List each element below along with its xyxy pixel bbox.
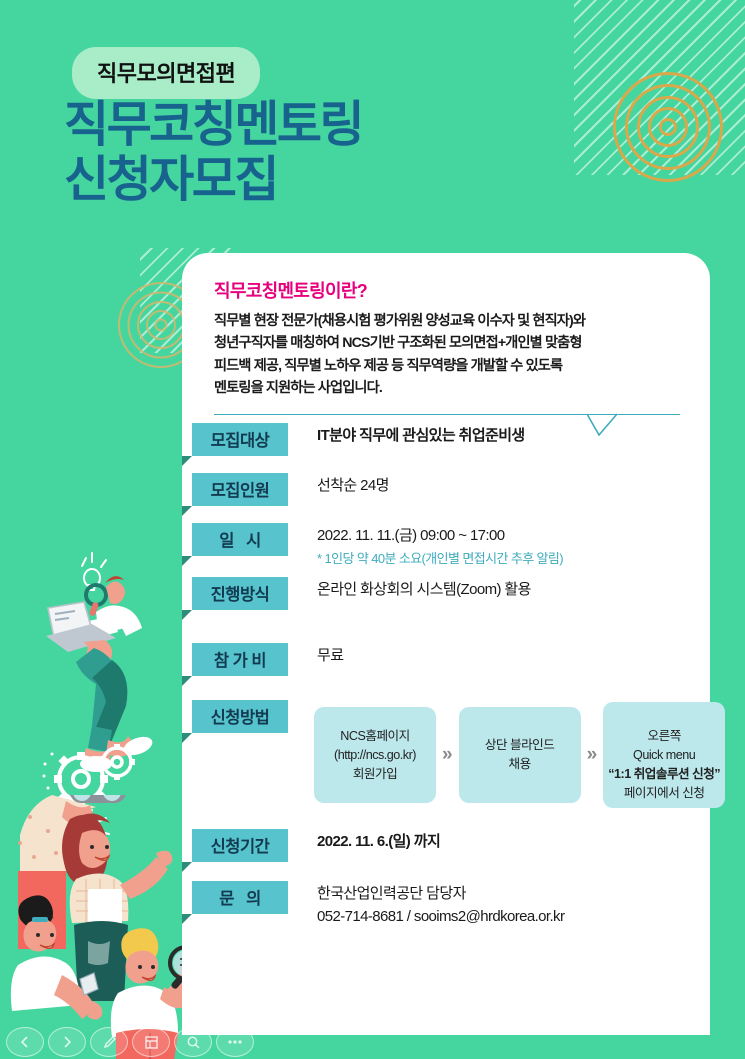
about-body: 직무별 현장 전문가(채용시험 평가위원 양성교육 이수자 및 현직자)와 청년… <box>214 310 680 400</box>
chevron-right-icon: » <box>436 744 459 766</box>
row-label: 모집대상 <box>192 423 288 456</box>
detail-rows: 모집대상 IT분야 직무에 관심있는 취업준비생 모집인원 선착순 24명 일 … <box>0 423 745 928</box>
table-row: 모집인원 선착순 24명 <box>0 473 745 506</box>
about-section: 직무코칭멘토링이란? 직무별 현장 전문가(채용시험 평가위원 양성교육 이수자… <box>182 253 710 400</box>
row-value: 선착순 24명 <box>288 473 745 498</box>
row-value: 2022. 11. 6.(일) 까지 <box>288 829 745 854</box>
flow-step-3-pre: 오른쪽 Quick menu <box>633 729 695 762</box>
table-row: 참 가 비 무료 <box>0 643 745 676</box>
page-title: 직무코칭멘토링 신청자모집 <box>64 98 362 208</box>
flow-step-3-bold: “1:1 취업솔루션 신청” <box>608 767 720 781</box>
row-value: IT분야 직무에 관심있는 취업준비생 <box>288 423 745 448</box>
pen-icon[interactable] <box>90 1027 128 1057</box>
table-row: 진행방식 온라인 화상회의 시스템(Zoom) 활용 <box>0 577 745 610</box>
row-label: 문 의 <box>192 881 288 914</box>
row-label: 신청방법 <box>192 700 288 733</box>
flow-step-3: 오른쪽 Quick menu “1:1 취업솔루션 신청” 페이지에서 신청 <box>603 702 725 808</box>
table-row-apply-method: 신청방법 NCS홈페이지 (http://ncs.go.kr) 회원가입 » 상… <box>0 700 745 808</box>
more-icon[interactable] <box>216 1027 254 1057</box>
application-flow: NCS홈페이지 (http://ncs.go.kr) 회원가입 » 상단 블라인… <box>288 700 725 808</box>
bottom-toolbar[interactable] <box>0 1027 254 1057</box>
row-label: 일 시 <box>192 523 288 556</box>
layout-icon[interactable] <box>132 1027 170 1057</box>
table-row: 문 의 한국산업인력공단 담당자 052-714-8681 / sooims2@… <box>0 881 745 928</box>
row-value: 2022. 11. 11.(금) 09:00 ~ 17:00 * 1인당 약 4… <box>288 523 745 568</box>
row-label: 모집인원 <box>192 473 288 506</box>
forward-icon[interactable] <box>48 1027 86 1057</box>
row-value: 무료 <box>288 643 745 668</box>
back-icon[interactable] <box>6 1027 44 1057</box>
flow-step-3-post: 페이지에서 신청 <box>624 786 705 800</box>
about-title: 직무코칭멘토링이란? <box>214 277 680 303</box>
row-label: 신청기간 <box>192 829 288 862</box>
row-label: 참 가 비 <box>192 643 288 676</box>
chevron-right-icon: » <box>581 744 604 766</box>
poster-canvas: 직무모의면접편 직무코칭멘토링 신청자모집 <box>0 0 745 1059</box>
row-value: 온라인 화상회의 시스템(Zoom) 활용 <box>288 577 745 602</box>
table-row: 신청기간 2022. 11. 6.(일) 까지 <box>0 829 745 862</box>
flow-step-2: 상단 블라인드 채용 <box>459 707 581 803</box>
table-row: 일 시 2022. 11. 11.(금) 09:00 ~ 17:00 * 1인당… <box>0 523 745 568</box>
row-value: 한국산업인력공단 담당자 052-714-8681 / sooims2@hrdk… <box>288 881 745 928</box>
row-label: 진행방식 <box>192 577 288 610</box>
row-note: * 1인당 약 40분 소요(개인별 면접시간 추후 알림) <box>317 549 745 569</box>
diagonal-stripes-decoration <box>574 0 745 175</box>
concentric-rings-icon <box>613 72 723 182</box>
table-row: 모집대상 IT분야 직무에 관심있는 취업준비생 <box>0 423 745 456</box>
flow-step-1: NCS홈페이지 (http://ncs.go.kr) 회원가입 <box>314 707 436 803</box>
category-badge: 직무모의면접편 <box>72 47 260 99</box>
search-icon[interactable] <box>174 1027 212 1057</box>
